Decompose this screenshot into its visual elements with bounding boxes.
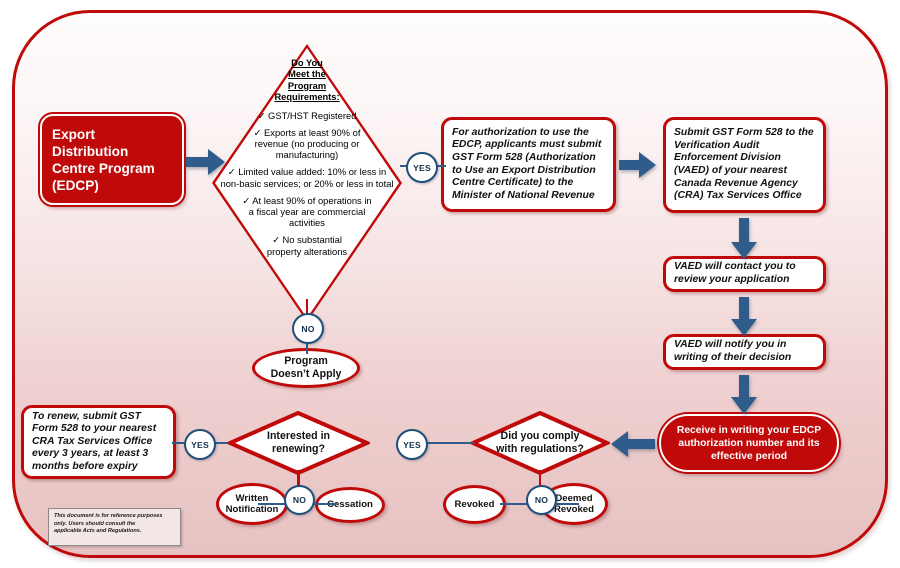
arrow-left-receive-to-comply	[610, 430, 656, 458]
node-program-doesnt-apply-label: ProgramDoesn’t Apply	[271, 355, 342, 381]
node-comply-diamond-label: Did you complywith regulations?	[470, 411, 610, 475]
disclaimer-box: This document is for reference purposes …	[48, 508, 181, 546]
arrow-right-authorization-to-submit	[619, 151, 657, 179]
requirement-item-4: ✓ At least 90% of operations in a fiscal…	[212, 195, 402, 229]
connector-renewing-to-no	[297, 470, 300, 486]
arrow-down-vaed-contact-to-notify	[730, 297, 758, 337]
node-renewing-diamond-label: Interested inrenewing?	[227, 411, 370, 475]
node-renew-text: To renew, submit GST Form 528 to your ne…	[32, 411, 165, 474]
requirement-item-5: ✓ No substantial property alterations	[212, 234, 402, 256]
badge-yes-renewing[interactable]: YES	[184, 429, 216, 460]
node-renewing-diamond[interactable]: Interested inrenewing?	[227, 411, 370, 475]
connector-comply-to-yes	[458, 442, 474, 444]
node-vaed-contact-box[interactable]: VAED will contact you to review your app…	[663, 256, 826, 292]
arrow-down-notify-to-receive	[730, 375, 758, 415]
node-comply-diamond[interactable]: Did you complywith regulations?	[470, 411, 610, 475]
badge-no-requirements[interactable]: NO	[292, 313, 324, 344]
flowchart-canvas: ExportDistributionCentre Program(EDCP) D…	[0, 0, 900, 568]
connector-comply-to-no	[539, 470, 542, 486]
requirements-content: Do You Meet the Program Requirements: ✓ …	[212, 58, 402, 257]
badge-yes-renewing-label: YES	[191, 440, 209, 450]
node-submit-form-text: Submit GST Form 528 to the Verification …	[674, 127, 815, 203]
requirements-title: Do You Meet the Program Requirements:	[212, 58, 402, 104]
node-vaed-notify-text: VAED will notify you in writing of their…	[674, 339, 815, 364]
arrow-right-start-to-requirements	[186, 148, 226, 176]
badge-no-renewing-label: NO	[293, 495, 306, 505]
node-receive-authorization-text: Receive in writing your EDCP authorizati…	[661, 424, 837, 463]
node-start-edcp-label: ExportDistributionCentre Program(EDCP)	[42, 126, 155, 194]
node-vaed-contact-text: VAED will contact you to review your app…	[674, 261, 815, 286]
requirement-item-1: ✓ GST/HST Registered	[212, 110, 402, 121]
node-authorization-box[interactable]: For authorization to use the EDCP, appli…	[441, 117, 616, 212]
badge-yes-comply-label: YES	[403, 440, 421, 450]
connector-renewing-to-yes	[214, 442, 228, 444]
badge-yes-comply[interactable]: YES	[396, 429, 428, 460]
badge-yes-requirements[interactable]: YES	[406, 152, 438, 183]
requirement-item-2: ✓ Exports at least 90% of revenue (no pr…	[212, 127, 402, 161]
node-renew-box[interactable]: To renew, submit GST Form 528 to your ne…	[21, 405, 176, 479]
node-revoked[interactable]: Revoked	[443, 485, 506, 524]
node-requirements-diamond[interactable]: Do You Meet the Program Requirements: ✓ …	[212, 44, 402, 322]
badge-no-renewing[interactable]: NO	[284, 485, 315, 515]
node-receive-authorization-box[interactable]: Receive in writing your EDCP authorizati…	[659, 414, 839, 472]
badge-no-comply-label: NO	[535, 495, 548, 505]
badge-no-requirements-label: NO	[301, 324, 314, 334]
node-authorization-text: For authorization to use the EDCP, appli…	[452, 127, 605, 203]
node-vaed-notify-box[interactable]: VAED will notify you in writing of their…	[663, 334, 826, 370]
node-program-doesnt-apply[interactable]: ProgramDoesn’t Apply	[252, 348, 360, 388]
node-submit-form-box[interactable]: Submit GST Form 528 to the Verification …	[663, 117, 826, 213]
badge-no-comply[interactable]: NO	[526, 485, 557, 515]
badge-yes-requirements-label: YES	[413, 163, 431, 173]
requirement-item-3: ✓ Limited value added: 10% or less in no…	[212, 166, 402, 188]
node-revoked-label: Revoked	[455, 499, 495, 510]
disclaimer-text: This document is for reference purposes …	[54, 513, 175, 536]
arrow-down-submit-to-vaed-contact	[730, 218, 758, 260]
node-start-edcp[interactable]: ExportDistributionCentre Program(EDCP)	[40, 114, 184, 205]
